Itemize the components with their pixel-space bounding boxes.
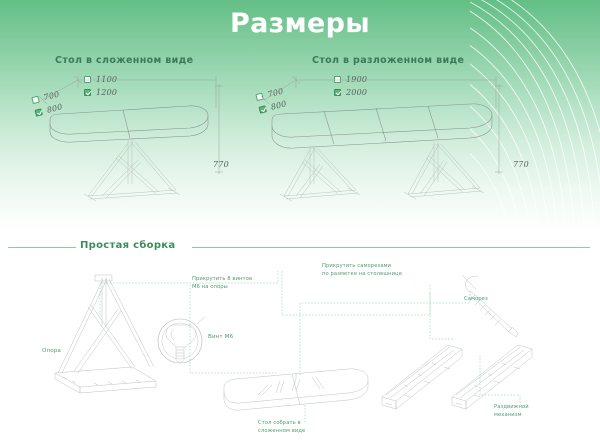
leg-part-drawing [55, 275, 156, 393]
callout-sliding-mechanism: Раздвижной механизм [494, 404, 529, 420]
assembly-heading: Простая сборка [80, 240, 175, 251]
assembled-table-drawing [224, 369, 368, 410]
callout-samorez: Саморез [464, 296, 488, 304]
folded-table-drawing [20, 62, 245, 212]
infographic-page: Размеры Стол в сложенном виде 1100 1200 … [0, 0, 600, 440]
divider-left [8, 247, 76, 248]
label-opora: Опора [42, 348, 61, 354]
callout-attach-screws: Прикрутить 8 винтов М6 на опоры [192, 276, 252, 292]
callout-assemble-folded: Стол собрать в сложенном виде [258, 420, 305, 436]
page-title: Размеры [0, 8, 600, 39]
self-tapping-screw-drawing [462, 275, 518, 337]
label-vint-m6: Винт М6 [208, 334, 233, 340]
screw-m6-drawing [158, 317, 205, 363]
sliding-mechanism-drawing [382, 345, 532, 409]
divider-right [192, 247, 590, 248]
unfolded-table-drawing [248, 62, 523, 212]
assembly-section-header: Простая сборка [0, 240, 600, 254]
callout-attach-self-tapping: Прикрутить саморезами по разметке на сто… [322, 263, 402, 279]
